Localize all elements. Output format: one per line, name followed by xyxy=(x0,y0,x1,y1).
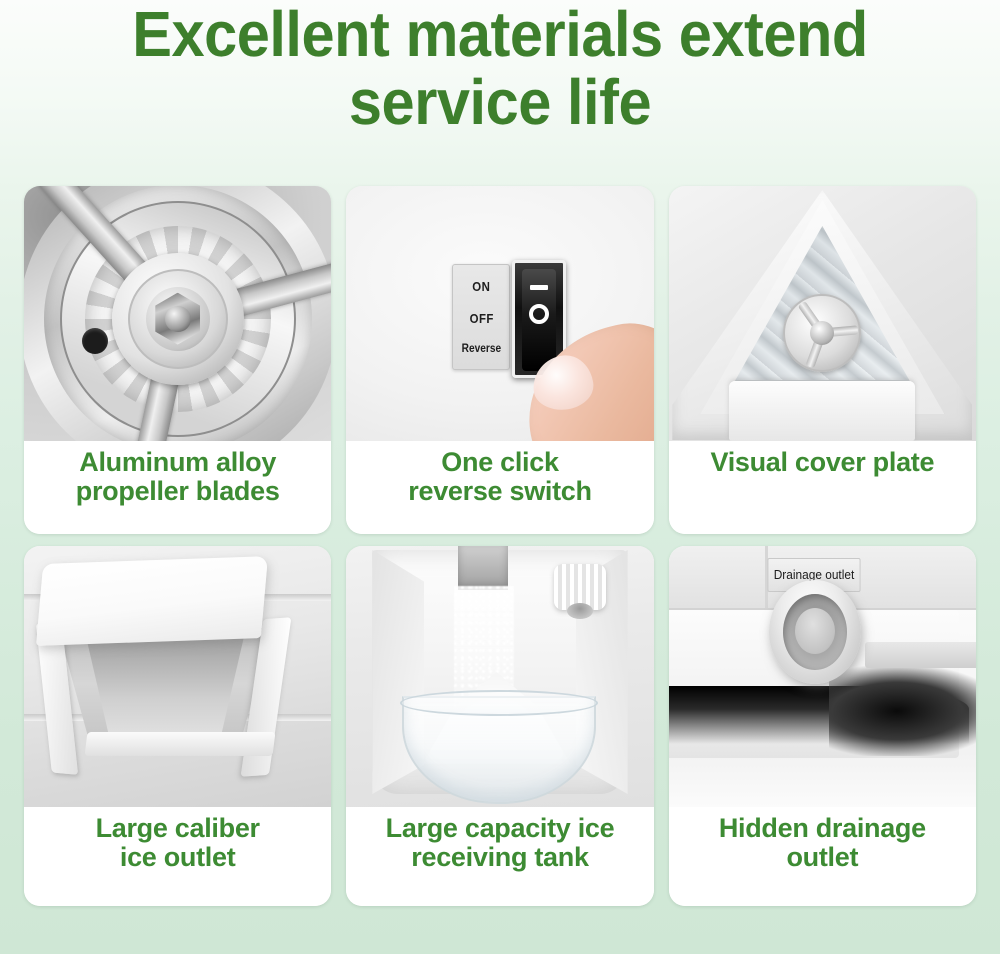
caption-line-1: Large caliber xyxy=(30,814,325,843)
caption-line-1: One click xyxy=(352,448,647,477)
cover-plate-drawer xyxy=(729,381,915,441)
appliance-foot-rail xyxy=(865,642,976,668)
caption-line-2: ice outlet xyxy=(30,843,325,872)
page-title-line-1: Excellent materials extend xyxy=(35,2,965,66)
switch-label-on: ON xyxy=(472,279,490,294)
caption-line-2: receiving tank xyxy=(352,843,647,872)
under-body-shadow-deep xyxy=(829,666,976,756)
cover-plate-photo xyxy=(669,186,976,441)
switch-label-off: OFF xyxy=(469,311,493,326)
feature-card-grid: Aluminum alloy propeller blades ON OFF R… xyxy=(24,186,976,906)
rotor-spoke-3 xyxy=(822,325,859,337)
switch-label-reverse: Reverse xyxy=(462,343,501,355)
caption-line-1: Aluminum alloy xyxy=(30,448,325,477)
page-title-line-2: service life xyxy=(35,70,965,134)
feature-caption: Large capacity ice receiving tank xyxy=(346,807,653,906)
power-on-bar-icon xyxy=(530,285,548,290)
outlet-top-shell xyxy=(36,556,268,646)
feature-caption: Hidden drainage outlet xyxy=(669,807,976,906)
feature-card-visual-cover-plate: Visual cover plate xyxy=(669,186,976,534)
rocker-paddle[interactable] xyxy=(522,269,556,371)
propeller-assembly xyxy=(24,186,331,441)
internal-rotor xyxy=(783,294,861,372)
caption-line-1: Visual cover plate xyxy=(675,448,970,477)
feature-caption: Aluminum alloy propeller blades xyxy=(24,441,331,534)
switch-label-plate: ON OFF Reverse xyxy=(452,264,510,370)
bowl-rim xyxy=(400,690,598,716)
drainage-outlet-photo: Drainage outlet xyxy=(669,546,976,807)
ice-dispense-chute xyxy=(458,546,508,590)
caption-line-1: Large capacity ice xyxy=(352,814,647,843)
water-nozzle-knob[interactable] xyxy=(554,564,606,610)
infographic-page: Excellent materials extend service life xyxy=(0,0,1000,954)
rotor-spoke-1 xyxy=(806,331,827,368)
caption-line-2: propeller blades xyxy=(30,477,325,506)
caption-line-2: reverse switch xyxy=(352,477,647,506)
caption-line-1: Hidden drainage xyxy=(675,814,970,843)
feature-caption: One click reverse switch xyxy=(346,441,653,534)
feature-card-aluminum-alloy-propeller-blades: Aluminum alloy propeller blades xyxy=(24,186,331,534)
housing-hole xyxy=(82,328,108,354)
reverse-switch-photo: ON OFF Reverse xyxy=(346,186,653,441)
feature-caption: Visual cover plate xyxy=(669,441,976,534)
feature-card-hidden-drainage-outlet: Drainage outlet Hidden drainage outlet xyxy=(669,546,976,906)
feature-card-large-capacity-ice-receiving-tank: Large capacity ice receiving tank xyxy=(346,546,653,906)
power-off-circle-icon xyxy=(529,304,549,324)
ice-outlet-photo xyxy=(24,546,331,807)
caption-line-2: outlet xyxy=(675,843,970,872)
propeller-photo xyxy=(24,186,331,441)
outlet-lip-bottom xyxy=(85,732,276,756)
feature-caption: Large caliber ice outlet xyxy=(24,807,331,906)
hex-nut-center xyxy=(165,306,191,332)
feature-card-one-click-reverse-switch: ON OFF Reverse One click reverse switch xyxy=(346,186,653,534)
feature-card-large-caliber-ice-outlet: Large caliber ice outlet xyxy=(24,546,331,906)
page-title: Excellent materials extend service life xyxy=(35,0,965,134)
ice-tank-photo xyxy=(346,546,653,807)
rotor-spoke-2 xyxy=(798,301,826,336)
drainage-port-plug[interactable] xyxy=(795,608,835,654)
